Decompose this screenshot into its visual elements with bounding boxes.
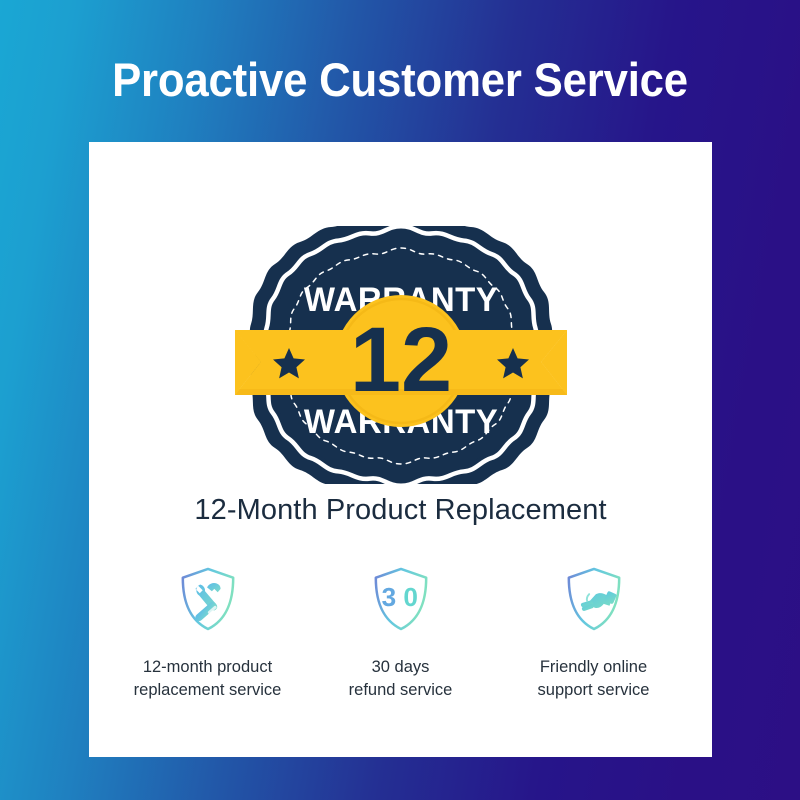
shield-tools-icon — [173, 560, 243, 638]
feature-item-support: Friendly online support service — [497, 560, 690, 703]
warranty-badge-graphic: WARRANTY WARRANTY — [231, 226, 571, 484]
svg-text:3: 3 — [381, 582, 396, 612]
feature-item-refund: 3 0 30 days refund service — [304, 560, 497, 703]
feature-caption: Friendly online support service — [538, 656, 650, 703]
svg-text:0: 0 — [403, 582, 418, 612]
feature-list: 12-month product replacement service — [111, 560, 690, 703]
shield-30-days-icon: 3 0 — [366, 560, 436, 638]
warranty-badge: WARRANTY WARRANTY — [231, 226, 571, 484]
poster-canvas: Proactive Customer Service — [0, 0, 800, 800]
shield-handshake-icon — [559, 560, 629, 638]
feature-caption: 12-month product replacement service — [134, 656, 282, 703]
feature-item-replacement: 12-month product replacement service — [111, 560, 304, 703]
headline-text: 12-Month Product Replacement — [89, 494, 712, 527]
feature-caption: 30 days refund service — [349, 656, 453, 703]
content-card: WARRANTY WARRANTY — [89, 142, 712, 757]
page-title: Proactive Customer Service — [28, 52, 772, 107]
badge-number: 12 — [349, 309, 451, 411]
